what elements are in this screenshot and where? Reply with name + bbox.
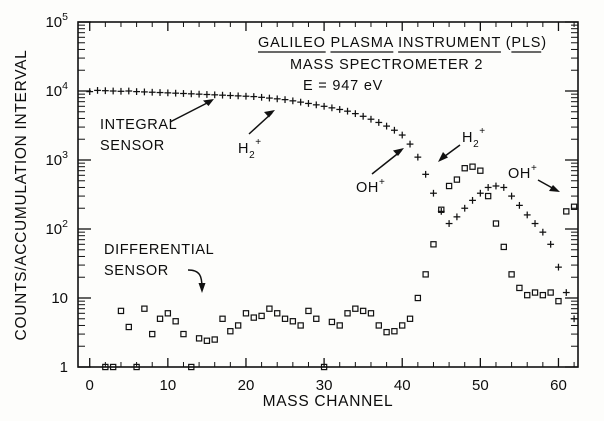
chart-title-line-2: MASS SPECTROMETER 2 <box>290 57 483 73</box>
y-tick-label: 1 <box>60 359 68 376</box>
oh-plus-differential-base: OH <box>508 166 531 182</box>
y-tick-label: 10 <box>51 290 68 307</box>
x-tick-label: 40 <box>394 377 411 394</box>
y-axis-title: COUNTS/ACCUMULATION INTERVAL <box>13 50 30 341</box>
annotation-integral-sensor-line-1: INTEGRAL <box>100 117 177 133</box>
x-tick-label: 60 <box>550 377 567 394</box>
h2-plus-differential-base: H <box>462 130 473 146</box>
oh-plus-integral-sup: + <box>379 177 385 188</box>
h2-plus-integral-sup: + <box>255 137 261 148</box>
annotation-differential-sensor-line-2: SENSOR <box>104 263 169 279</box>
x-tick-label: 50 <box>472 377 489 394</box>
mass-spectrum-chart: 0102030405060 110102103104105 MASS CHANN… <box>0 0 604 421</box>
h2-plus-differential-sup: + <box>479 126 485 137</box>
x-tick-label: 0 <box>86 377 94 394</box>
annotation-differential-sensor-line-1: DIFFERENTIAL <box>104 242 214 258</box>
chart-title-line-3: E = 947 eV <box>303 78 383 94</box>
oh-plus-differential-sup: + <box>531 163 537 174</box>
figure-container: 0102030405060 110102103104105 MASS CHANN… <box>0 0 604 421</box>
h2-plus-differential-sub: 2 <box>473 139 479 150</box>
x-axis-title: MASS CHANNEL <box>263 393 394 410</box>
x-tick-label: 20 <box>238 377 255 394</box>
h2-plus-integral-base: H <box>238 141 249 157</box>
x-tick-label: 10 <box>160 377 177 394</box>
h2-plus-integral-sub: 2 <box>249 150 255 161</box>
x-tick-label: 30 <box>316 377 333 394</box>
oh-plus-integral-base: OH <box>356 180 379 196</box>
annotation-integral-sensor-line-2: SENSOR <box>100 138 165 154</box>
chart-title-line-1: GALILEO PLASMA INSTRUMENT (PLS) <box>258 35 547 51</box>
